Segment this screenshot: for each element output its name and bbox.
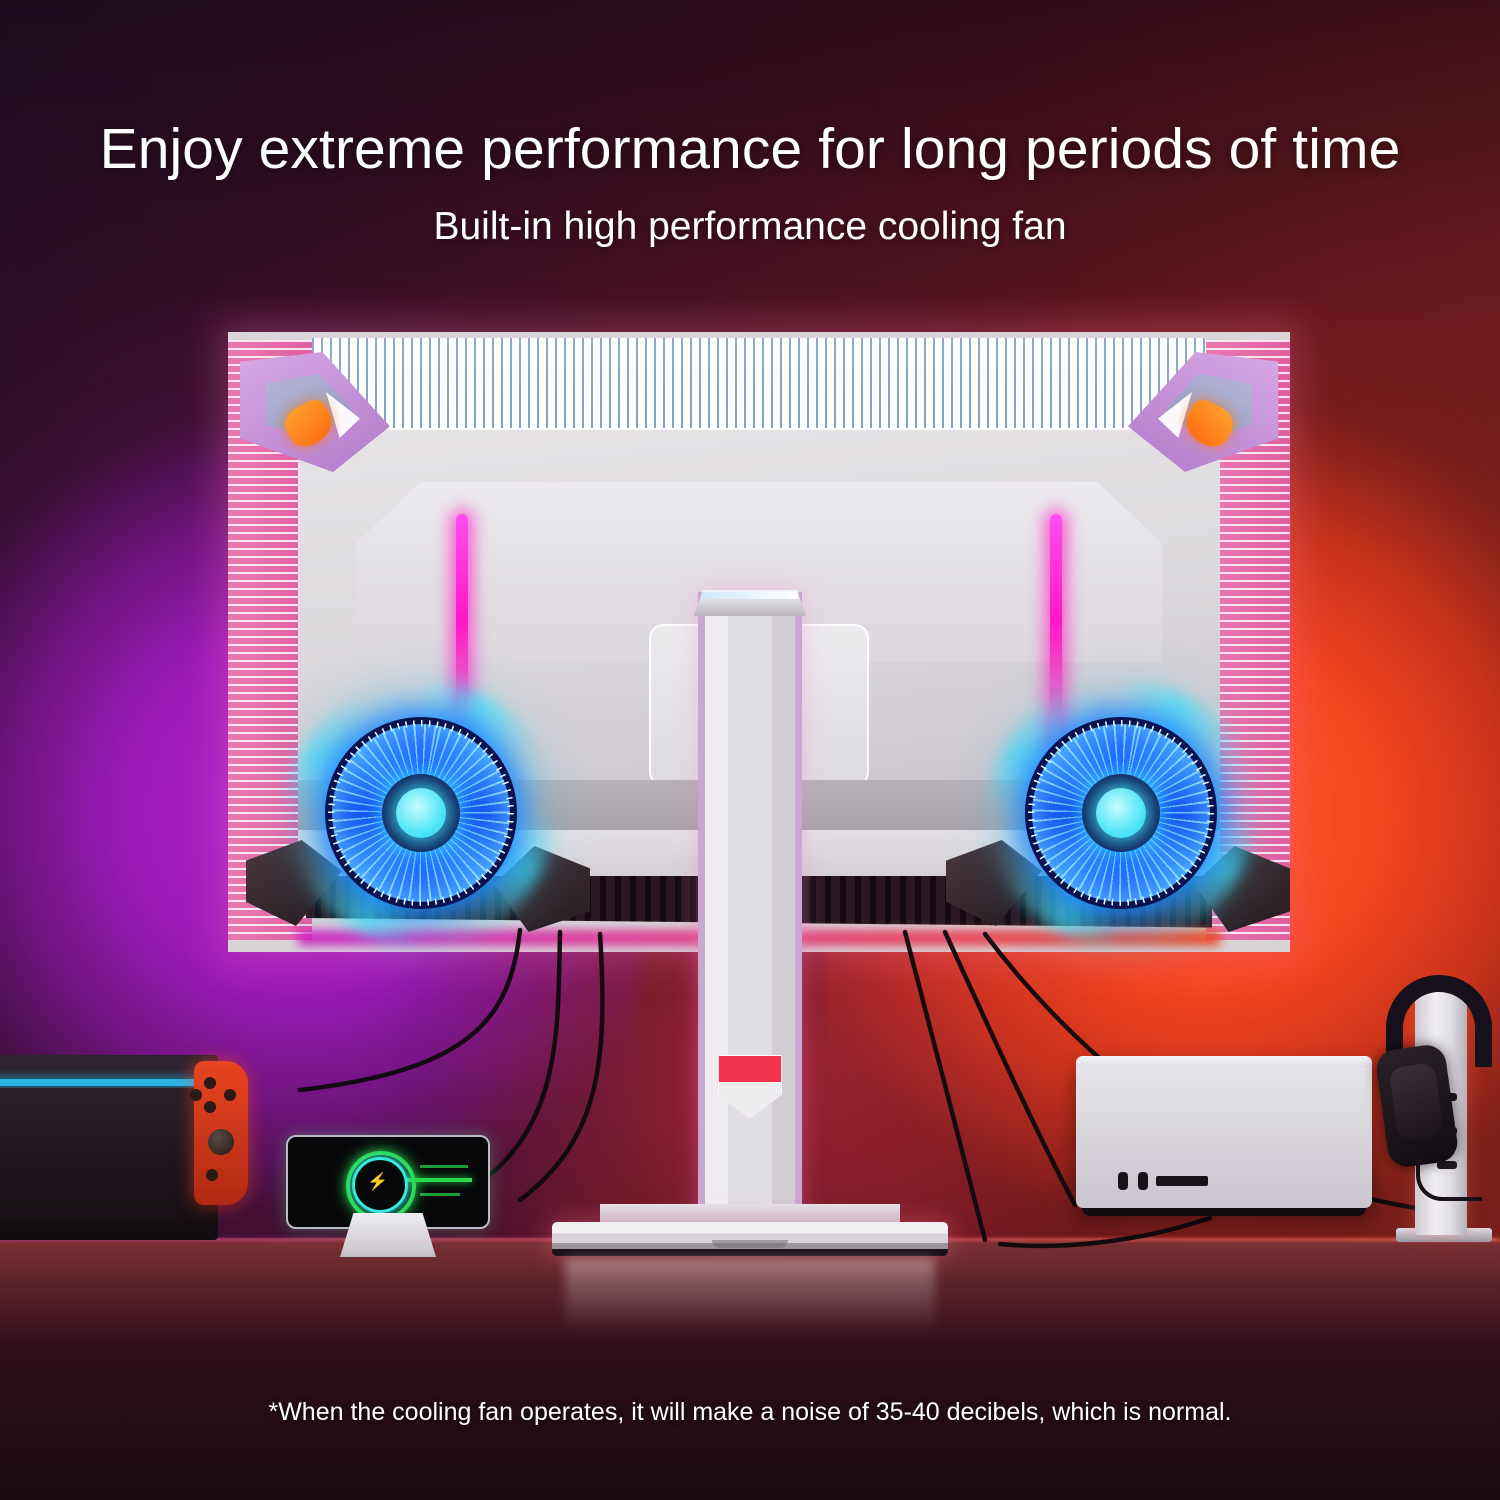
page-subheadline: Built-in high performance cooling fan <box>0 205 1500 249</box>
joycon-button <box>224 1089 236 1101</box>
headset-cable <box>1416 1157 1482 1201</box>
usb-c-port[interactable] <box>1138 1172 1148 1190</box>
fan-hub-center <box>396 788 446 838</box>
headset-earcup-pad <box>1389 1062 1445 1142</box>
game-console-dock <box>0 1055 218 1240</box>
product-marketing-scene: ⚡ Enjoy extreme performance for long per… <box>0 0 1500 1500</box>
dock-front-face <box>0 1088 206 1220</box>
joycon-button <box>204 1101 216 1113</box>
dock-led-slot <box>0 1079 208 1086</box>
dock-top <box>0 1055 218 1077</box>
usb-c-port[interactable] <box>1118 1172 1128 1190</box>
phone-ui-trace <box>420 1165 468 1168</box>
cooling-fan-right <box>998 690 1244 936</box>
cooling-fan-left <box>298 690 544 936</box>
joycon-button <box>206 1169 218 1181</box>
heatsink-fins-top <box>312 338 1206 440</box>
joycon-controller <box>194 1061 248 1205</box>
stand-base-reflection <box>565 1258 935 1332</box>
phone-ui-trace <box>420 1193 460 1196</box>
phone-charging-stand: ⚡ <box>286 1135 486 1263</box>
corner-wing-right <box>1128 352 1278 472</box>
mini-pc-body <box>1076 1056 1372 1208</box>
corner-wing-left <box>240 352 390 472</box>
mini-pc-top-face <box>1076 1056 1372 1067</box>
sd-card-slot[interactable] <box>1156 1176 1208 1186</box>
joycon-button <box>204 1077 216 1089</box>
stand-cap-highlight <box>702 592 798 599</box>
page-headline: Enjoy extreme performance for long perio… <box>0 116 1500 182</box>
phone-ui-trace <box>406 1178 472 1182</box>
fan-hub-center <box>1096 788 1146 838</box>
monitor-stand-column <box>698 592 802 1236</box>
monitor-stand-base <box>552 1222 948 1256</box>
joycon-button <box>190 1089 202 1101</box>
phone-charge-icon: ⚡ <box>367 1172 387 1192</box>
stand-base-notch <box>712 1240 788 1248</box>
gaming-headset <box>1376 975 1498 1205</box>
phone-stand-wedge <box>340 1213 436 1257</box>
joycon-analog-stick <box>208 1129 234 1155</box>
mini-pc <box>1076 1056 1372 1208</box>
page-footnote: *When the cooling fan operates, it will … <box>0 1398 1500 1427</box>
